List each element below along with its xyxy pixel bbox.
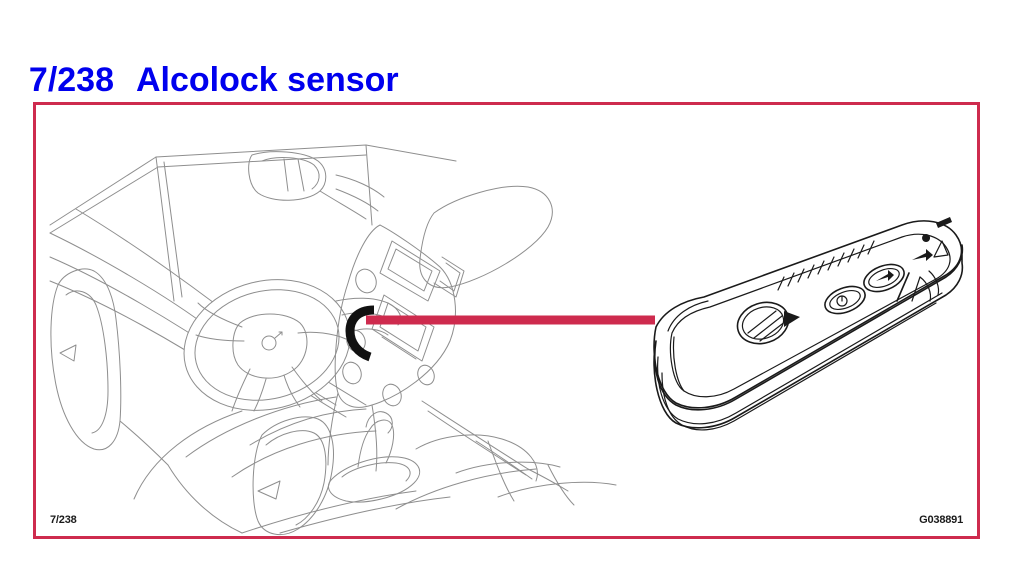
status-dot-icon <box>922 234 930 242</box>
page-title-number: 7/238 <box>29 61 114 99</box>
figure-artwork <box>36 105 977 536</box>
steering-wheel <box>170 263 364 428</box>
figure-frame: 7/238 G038891 <box>33 102 980 539</box>
windshield-and-pillars <box>50 145 456 301</box>
figure-caption-left: 7/238 <box>50 514 77 526</box>
alcolock-sensor-device <box>654 217 962 430</box>
page-title: 7/238Alcolock sensor <box>10 20 399 100</box>
cabin-trim-lines <box>422 401 568 491</box>
door-trim-panel <box>51 269 168 465</box>
instrument-cluster <box>249 152 384 219</box>
callout-leader <box>350 310 655 357</box>
device-body <box>654 221 961 408</box>
center-tunnel-and-seats <box>134 397 616 535</box>
vehicle-interior-illustration <box>50 145 616 535</box>
figure-caption-right: G038891 <box>919 514 963 526</box>
page-title-text: Alcolock sensor <box>136 61 399 99</box>
